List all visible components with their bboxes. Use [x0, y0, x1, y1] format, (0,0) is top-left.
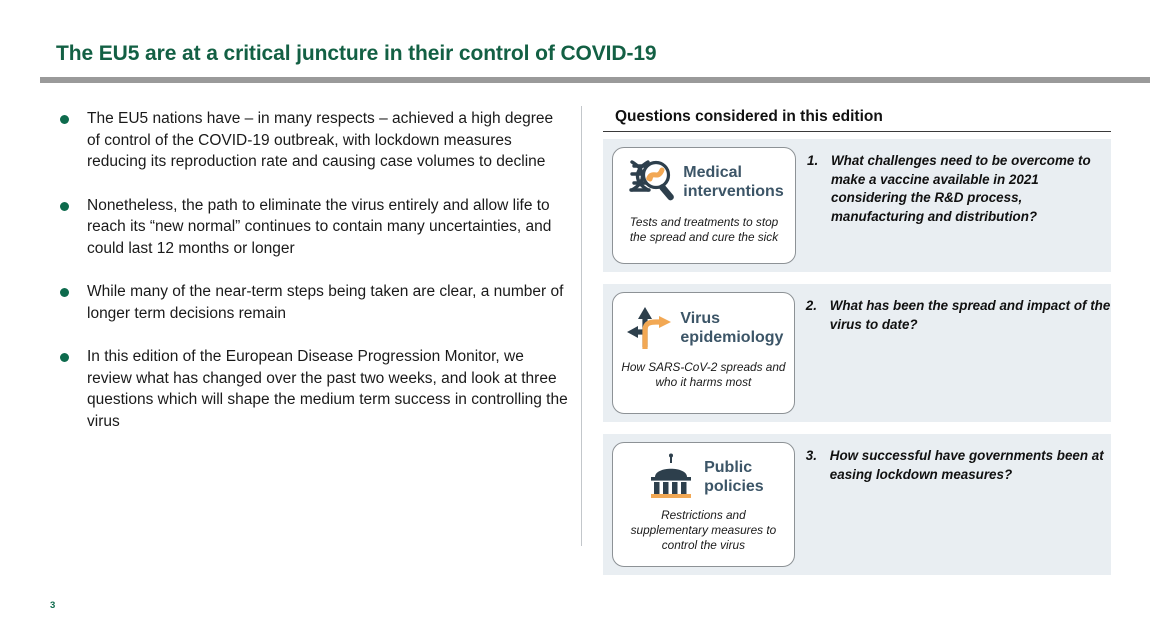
topic-card-title-line1: Public [704, 459, 752, 476]
question-number: 1. [807, 152, 831, 226]
topic-card-header: Virus epidemiology [613, 303, 794, 353]
page-number: 3 [50, 600, 55, 611]
list-item: Nonetheless, the path to eliminate the v… [60, 195, 570, 260]
question-band: Medical interventions Tests and treatmen… [603, 139, 1111, 272]
questions-heading: Questions considered in this edition [603, 108, 1111, 131]
topic-card-title-line2: epidemiology [680, 329, 783, 346]
list-item: The EU5 nations have – in many respects … [60, 108, 570, 173]
government-building-icon [643, 453, 699, 501]
topic-card-title: Virus epidemiology [680, 309, 783, 347]
page-title: The EU5 are at a critical juncture in th… [56, 42, 657, 66]
question-text: What challenges need to be overcome to m… [831, 152, 1111, 226]
topic-card-title-line2: policies [704, 478, 764, 495]
question-band: Virus epidemiology How SARS-CoV-2 spread… [603, 284, 1111, 422]
summary-bullet-list: The EU5 nations have – in many respects … [60, 108, 570, 454]
question-entry: 1. What challenges need to be overcome t… [807, 152, 1111, 226]
list-item: In this edition of the European Disease … [60, 346, 570, 432]
question-entry: 2. What has been the spread and impact o… [806, 297, 1111, 334]
topic-card-title-line1: Virus [680, 310, 720, 327]
slide-root: The EU5 are at a critical juncture in th… [0, 0, 1170, 623]
topic-card-subtitle: Restrictions and supplementary measures … [613, 508, 794, 553]
question-text: What has been the spread and impact of t… [830, 297, 1111, 334]
questions-panel: Questions considered in this edition [603, 108, 1111, 587]
bullet-text: Nonetheless, the path to eliminate the v… [87, 195, 570, 260]
question-number: 2. [806, 297, 830, 334]
bullet-text: In this edition of the European Disease … [87, 346, 570, 432]
topic-card-title-line2: interventions [683, 183, 783, 200]
question-band: Public policies Restrictions and supplem… [603, 434, 1111, 575]
bullet-dot-icon [60, 288, 69, 297]
question-text: How successful have governments been at … [830, 447, 1111, 484]
bullet-dot-icon [60, 353, 69, 362]
bullet-text: While many of the near-term steps being … [87, 281, 570, 324]
questions-heading-rule [603, 131, 1111, 132]
branching-arrows-icon [623, 303, 675, 353]
bullet-dot-icon [60, 115, 69, 124]
dna-magnifier-icon [624, 156, 678, 208]
topic-card-subtitle: Tests and treatments to stop the spread … [613, 215, 795, 245]
topic-card-header: Medical interventions [613, 156, 795, 208]
column-divider [581, 106, 582, 546]
header-divider-rule [40, 77, 1150, 83]
list-item: While many of the near-term steps being … [60, 281, 570, 324]
topic-card-header: Public policies [613, 453, 794, 501]
topic-card-subtitle: How SARS-CoV-2 spreads and who it harms … [613, 360, 794, 390]
topic-card-public-policies[interactable]: Public policies Restrictions and supplem… [612, 442, 795, 567]
topic-card-title: Public policies [704, 458, 764, 496]
topic-card-title-line1: Medical [683, 164, 742, 181]
bullet-dot-icon [60, 202, 69, 211]
topic-card-title: Medical interventions [683, 163, 783, 201]
question-entry: 3. How successful have governments been … [806, 447, 1111, 484]
topic-card-virus-epidemiology[interactable]: Virus epidemiology How SARS-CoV-2 spread… [612, 292, 795, 414]
topic-card-medical-interventions[interactable]: Medical interventions Tests and treatmen… [612, 147, 796, 264]
question-number: 3. [806, 447, 830, 484]
bullet-text: The EU5 nations have – in many respects … [87, 108, 570, 173]
